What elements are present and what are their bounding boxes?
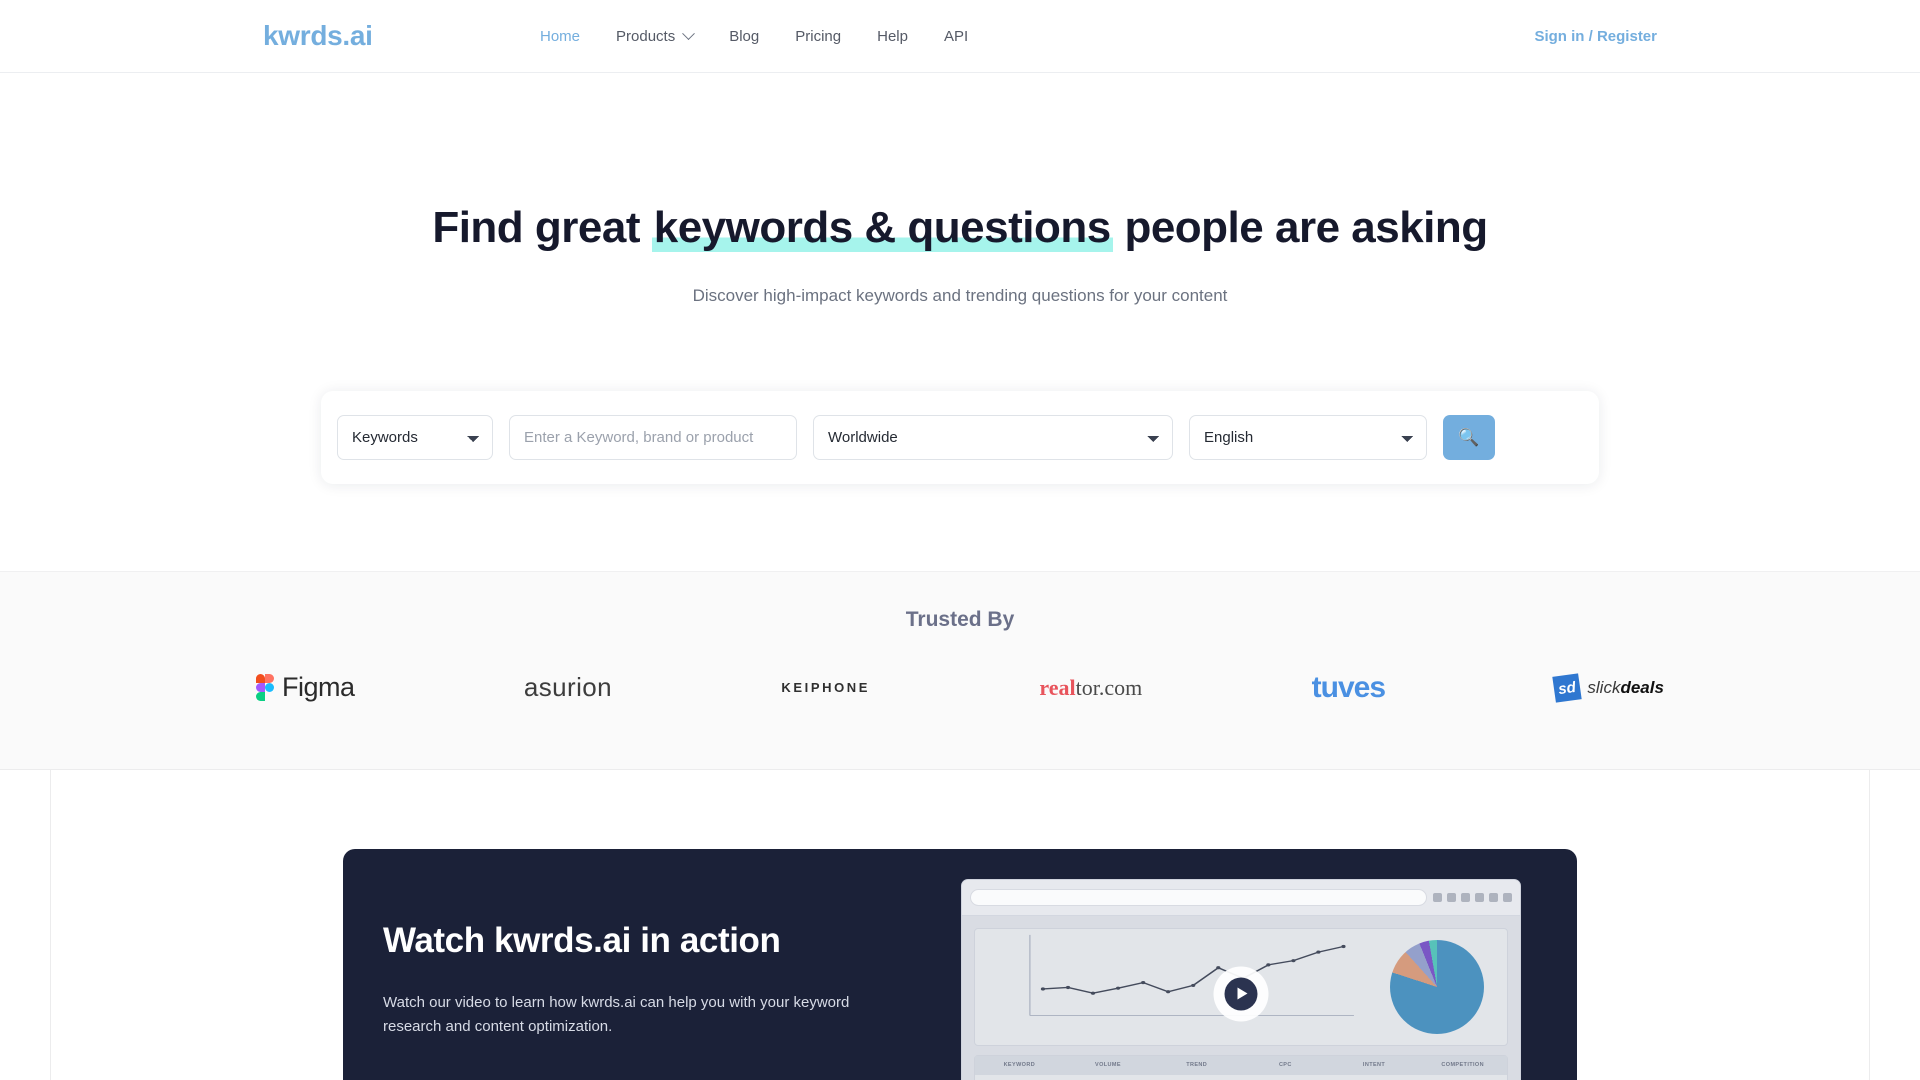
play-icon [1225, 977, 1258, 1010]
logo-slickdeals: sd slickdeals [1554, 662, 1664, 714]
language-select[interactable]: English [1189, 415, 1427, 460]
search-type-select[interactable]: Keywords [337, 415, 493, 460]
logo-tuves: tuves [1312, 662, 1385, 714]
figma-wordmark: Figma [282, 672, 355, 703]
nav-item-products[interactable]: Products [616, 28, 693, 45]
logo-asurion: asurion [524, 662, 612, 714]
keiphone-wordmark: KEIPHONE [781, 680, 870, 695]
sign-in-register-link[interactable]: Sign in / Register [1534, 28, 1657, 45]
hero-heading-suffix: people are asking [1113, 203, 1488, 252]
hero-subtitle: Discover high-impact keywords and trendi… [0, 286, 1920, 306]
top-navbar: kwrds.ai Home Products Blog Pricing Help… [0, 0, 1920, 73]
browser-url-bar [970, 889, 1427, 906]
trusted-by-logos: Figma asurion KEIPHONE realtor.com tuves… [0, 662, 1920, 714]
play-button[interactable] [1214, 966, 1269, 1021]
chevron-down-icon [682, 27, 695, 40]
nav-item-home[interactable]: Home [540, 28, 580, 45]
video-description: Watch our video to learn how kwrds.ai ca… [383, 991, 883, 1039]
nav-item-help[interactable]: Help [877, 28, 908, 45]
realtor-wordmark-red: real [1039, 675, 1075, 700]
slickdeals-wordmark: slickdeals [1587, 678, 1664, 698]
page-title: Find great keywords & questions people a… [0, 203, 1920, 254]
figma-icon [256, 674, 275, 702]
video-card: Watch kwrds.ai in action Watch our video… [343, 849, 1577, 1080]
search-input[interactable] [509, 415, 797, 460]
slickdeals-wordmark-bold: deals [1620, 678, 1663, 697]
search-icon: 🔍 [1458, 429, 1479, 446]
hero-heading-highlight: keywords & questions [652, 203, 1113, 252]
hero-section: Find great keywords & questions people a… [0, 73, 1920, 484]
browser-chrome-mock [962, 880, 1520, 916]
asurion-wordmark: asurion [524, 672, 612, 703]
video-section: Watch kwrds.ai in action Watch our video… [50, 770, 1870, 1080]
nav-item-blog[interactable]: Blog [729, 28, 759, 45]
video-thumbnail[interactable]: KEYWORD VOLUME TREND CPC INTENT COMPETIT… [961, 879, 1521, 1080]
nav-links: Home Products Blog Pricing Help API [540, 28, 968, 45]
trusted-by-section: Trusted By Figma asurion KEIPHONE realto… [0, 571, 1920, 770]
realtor-wordmark: realtor.com [1039, 675, 1142, 701]
brand-logo[interactable]: kwrds.ai [263, 20, 373, 52]
search-button[interactable]: 🔍 [1443, 415, 1495, 460]
trusted-by-title: Trusted By [0, 608, 1920, 632]
logo-realtor: realtor.com [1039, 662, 1142, 714]
nav-item-api[interactable]: API [944, 28, 968, 45]
logo-figma: Figma [256, 662, 355, 714]
video-heading: Watch kwrds.ai in action [383, 921, 943, 961]
browser-toolbar-icons [1433, 893, 1512, 902]
slickdeals-icon: sd [1553, 673, 1582, 702]
logo-keiphone: KEIPHONE [781, 662, 870, 714]
realtor-wordmark-dark: tor.com [1076, 675, 1143, 700]
slickdeals-wordmark-light: slick [1587, 678, 1620, 697]
search-bar: Keywords Worldwide English 🔍 [321, 391, 1599, 484]
nav-item-pricing[interactable]: Pricing [795, 28, 841, 45]
tuves-wordmark: tuves [1312, 671, 1385, 705]
hero-heading-prefix: Find great [432, 203, 651, 252]
video-copy: Watch kwrds.ai in action Watch our video… [343, 849, 943, 1080]
nav-item-products-label: Products [616, 28, 675, 45]
region-select[interactable]: Worldwide [813, 415, 1173, 460]
